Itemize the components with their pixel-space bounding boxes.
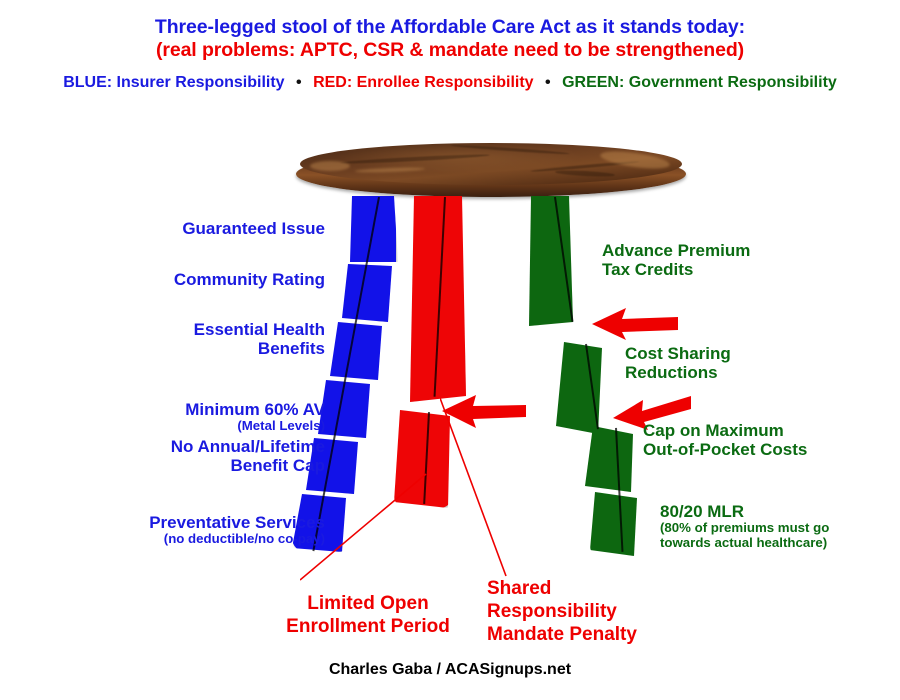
wood-highlight-3 (310, 161, 350, 171)
stool-seat (296, 141, 686, 199)
label-minimum-av-sub: (Metal Levels) (20, 419, 325, 434)
label-preventative-services: Preventative Services (no deductible/no … (20, 494, 325, 566)
legend-item-red: RED: Enrollee Responsibility (313, 74, 533, 91)
label-preventative-services-sub: (no deductible/no co-pay) (20, 532, 325, 547)
infographic-canvas: Three-legged stool of the Affordable Car… (0, 0, 900, 700)
label-guaranteed-issue: Guaranteed Issue (20, 219, 325, 238)
page-title-line-2: (real problems: APTC, CSR & mandate need… (0, 39, 900, 62)
arrow-to-mandate-break (442, 394, 526, 428)
leg-green-segment-3 (585, 426, 635, 492)
label-community-rating: Community Rating (20, 270, 325, 289)
leg-green-segment-4-foot (590, 492, 642, 556)
legend: BLUE: Insurer Responsibility • RED: Enro… (0, 74, 900, 92)
wood-grain-4 (555, 169, 615, 177)
label-mlr-sub: (80% of premiums must go towards actual … (660, 521, 895, 551)
pointer-line-shared-responsibility (440, 398, 520, 578)
label-mlr-main: 80/20 MLR (660, 502, 744, 521)
credit-line: Charles Gaba / ACASignups.net (0, 661, 900, 679)
legend-item-blue: BLUE: Insurer Responsibility (63, 74, 284, 91)
legend-separator-2: • (538, 74, 558, 91)
label-essential-health-benefits: Essential Health Benefits (20, 320, 325, 358)
leg-green-segment-1 (529, 196, 573, 326)
leg-blue-segment-3 (330, 322, 388, 380)
wood-highlight-1 (355, 167, 425, 173)
label-no-annual-lifetime-cap: No Annual/Lifetime Benefit Cap (20, 437, 325, 475)
label-mlr: 80/20 MLR (80% of premiums must go towar… (660, 483, 895, 570)
arrow-to-apt-break (592, 306, 678, 340)
label-advance-premium-tax-credits: Advance Premium Tax Credits (602, 241, 892, 279)
label-minimum-av-main: Minimum 60% AV (185, 400, 325, 419)
stool-seat-top (300, 143, 682, 185)
label-shared-responsibility-mandate: Shared Responsibility Mandate Penalty (487, 577, 707, 647)
label-limited-open-enrollment: Limited Open Enrollment Period (268, 592, 468, 638)
page-title-line-1: Three-legged stool of the Affordable Car… (0, 16, 900, 39)
label-preventative-services-main: Preventative Services (149, 513, 325, 532)
legend-separator-1: • (289, 74, 309, 91)
leg-blue-segment-4 (318, 380, 376, 438)
label-cap-on-maximum-oop: Cap on Maximum Out-of-Pocket Costs (643, 421, 898, 459)
legend-item-green: GREEN: Government Responsibility (562, 74, 837, 91)
wood-highlight-2 (599, 148, 670, 172)
label-cost-sharing-reductions: Cost Sharing Reductions (625, 344, 895, 382)
wood-grain-1 (340, 153, 490, 165)
leg-blue-segment-2 (342, 264, 394, 322)
wood-grain-2 (450, 144, 570, 155)
